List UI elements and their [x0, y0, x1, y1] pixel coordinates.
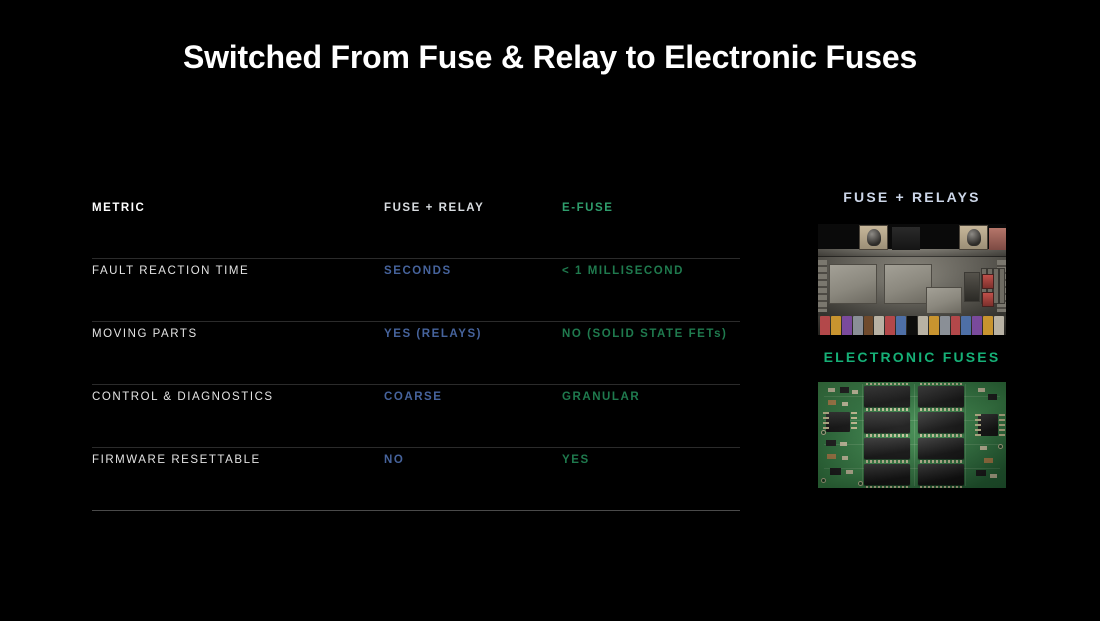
- fuse-relay-value: NO: [384, 448, 562, 466]
- fuse-relay-value: SECONDS: [384, 259, 562, 277]
- pcb-lighting-overlay: [818, 382, 1006, 488]
- relay-module: [926, 287, 962, 314]
- column-header-metric: METRIC: [92, 196, 384, 214]
- blade-fuse: [940, 316, 950, 335]
- table-header-row: METRIC FUSE + RELAY E-FUSE: [92, 196, 740, 259]
- slide-root: Switched From Fuse & Relay to Electronic…: [0, 0, 1100, 621]
- efuse-value: GRANULAR: [562, 385, 740, 403]
- blade-fuse: [864, 316, 874, 335]
- blade-fuse: [983, 316, 993, 335]
- relay-module-small: [964, 272, 980, 302]
- relay-module: [829, 264, 877, 304]
- table-row: CONTROL & DIAGNOSTICS COARSE GRANULAR: [92, 385, 740, 448]
- fusebox-terminal-post: [859, 225, 888, 250]
- metric-label: CONTROL & DIAGNOSTICS: [92, 385, 384, 403]
- efuse-value: < 1 MILLISECOND: [562, 259, 740, 277]
- table-row: MOVING PARTS YES (RELAYS) NO (SOLID STAT…: [92, 322, 740, 385]
- blade-fuse: [874, 316, 884, 335]
- blade-fuse: [951, 316, 961, 335]
- blade-fuse: [820, 316, 830, 335]
- fusebox-side-connector: [818, 260, 827, 312]
- efuse-value: YES: [562, 448, 740, 466]
- panel-fuse-relays: FUSE + RELAYS: [818, 189, 1006, 335]
- fuse-relay-value: YES (RELAYS): [384, 322, 562, 340]
- fuse-relay-box-image: [818, 224, 1006, 335]
- empty-fuse-slot: [907, 316, 917, 335]
- metric-label: FIRMWARE RESETTABLE: [92, 448, 384, 466]
- blade-fuse: [994, 316, 1004, 335]
- blade-fuse: [885, 316, 895, 335]
- table-row: FIRMWARE RESETTABLE NO YES: [92, 448, 740, 511]
- column-header-fuse-relay: FUSE + RELAY: [384, 196, 562, 214]
- cartridge-fuse: [982, 292, 994, 307]
- page-title: Switched From Fuse & Relay to Electronic…: [0, 36, 1100, 78]
- cartridge-fuse: [982, 274, 994, 289]
- blade-fuse: [842, 316, 852, 335]
- panel-label-fuse-relays: FUSE + RELAYS: [818, 189, 1006, 205]
- comparison-table: METRIC FUSE + RELAY E-FUSE FAULT REACTIO…: [92, 196, 740, 511]
- blade-fuse-row: [818, 316, 1006, 335]
- blade-fuse: [831, 316, 841, 335]
- fuse-relay-value: COARSE: [384, 385, 562, 403]
- fusebox-black-block: [892, 227, 920, 250]
- blade-fuse: [929, 316, 939, 335]
- relay-module: [884, 264, 932, 304]
- column-header-efuse: E-FUSE: [562, 196, 740, 214]
- metric-label: MOVING PARTS: [92, 322, 384, 340]
- metric-label: FAULT REACTION TIME: [92, 259, 384, 277]
- panel-electronic-fuses: ELECTRONIC FUSES: [818, 349, 1006, 488]
- panel-label-electronic-fuses: ELECTRONIC FUSES: [818, 349, 1006, 365]
- efuse-value: NO (SOLID STATE FETs): [562, 322, 740, 340]
- fusebox-red-block: [989, 228, 1006, 250]
- electronic-fuse-pcb-image: [818, 382, 1006, 488]
- table-row: FAULT REACTION TIME SECONDS < 1 MILLISEC…: [92, 259, 740, 322]
- fusebox-terminal-post: [959, 225, 988, 250]
- blade-fuse: [853, 316, 863, 335]
- blade-fuse: [896, 316, 906, 335]
- blade-fuse: [972, 316, 982, 335]
- blade-fuse: [918, 316, 928, 335]
- blade-fuse: [961, 316, 971, 335]
